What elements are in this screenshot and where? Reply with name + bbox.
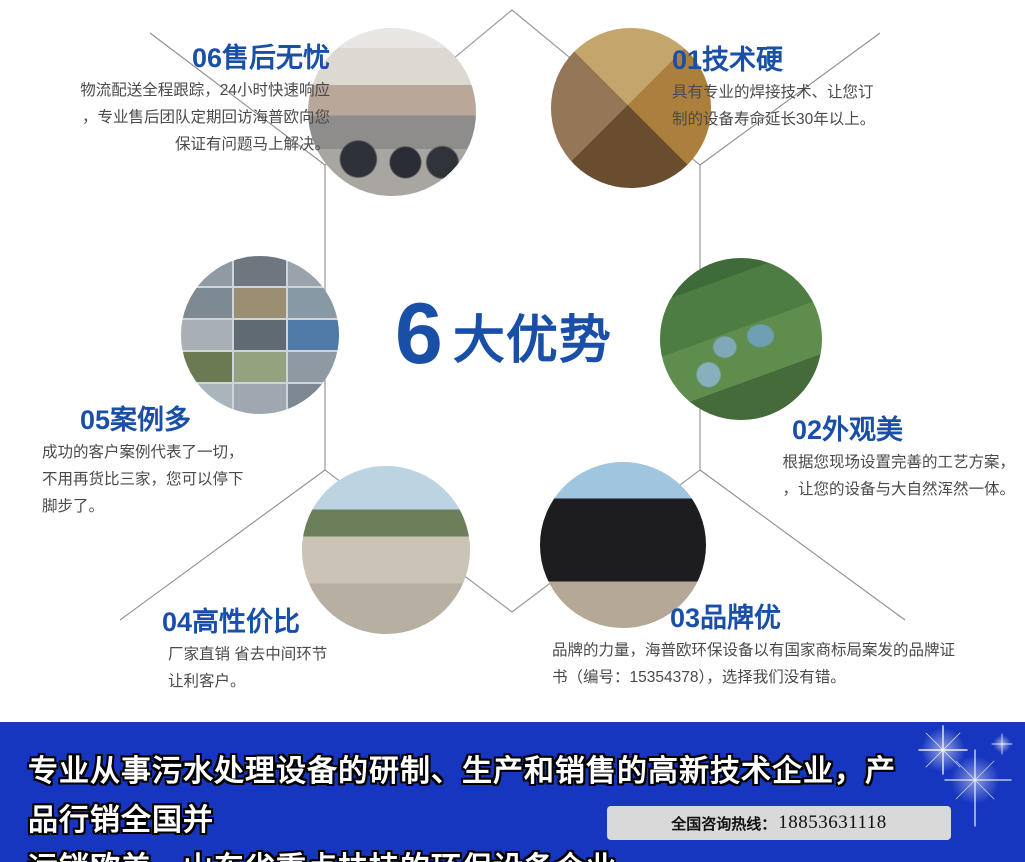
bottom-banner: 专业从事污水处理设备的研制、生产和销售的高新技术企业，产品行销全国并 远销欧美，… — [0, 722, 1025, 862]
case-collage-photo — [181, 256, 339, 414]
feature-03-desc: 品牌的力量，海普欧环保设备以有国家商标局案发的品牌证 书（编号：15354378… — [552, 638, 1025, 691]
feature-06: 06售后无忧 物流配送全程跟踪，24小时快速响应 ，专业售后团队定期回访海普欧向… — [10, 44, 330, 158]
feature-05-heading: 05案例多 — [80, 406, 362, 434]
feature-04-heading: 04高性价比 — [162, 608, 450, 636]
feature-03: 03品牌优 品牌的力量，海普欧环保设备以有国家商标局案发的品牌证 书（编号：15… — [528, 604, 1025, 692]
feature-06-desc: 物流配送全程跟踪，24小时快速响应 ，专业售后团队定期回访海普欧向您 保证有问题… — [10, 78, 330, 158]
banner-slogan: 专业从事污水处理设备的研制、生产和销售的高新技术企业，产品行销全国并 远销欧美，… — [28, 748, 908, 862]
banner-line-2: 远销欧美，山东省重点扶持的环保设备企业。 — [28, 852, 648, 862]
feature-01-desc: 具有专业的焊接技术、让您订 制的设备寿命延长30年以上。 — [672, 80, 1012, 133]
center-text: 大优势 — [453, 298, 612, 373]
hotline-label: 全国咨询热线： — [671, 813, 776, 834]
feature-01-heading: 01技术硬 — [672, 46, 1012, 74]
feature-04: 04高性价比 厂家直销 省去中间环节 让利客户。 — [130, 608, 450, 696]
center-headline: 6 大优势 — [395, 290, 645, 380]
wastewater-plant-aerial-photo — [660, 258, 822, 420]
office-staff-photo — [308, 28, 476, 196]
feature-02-desc: 根据您现场设置完善的工艺方案， ，让您的设备与大自然浑然一体。 — [690, 450, 1015, 503]
feature-04-desc: 厂家直销 省去中间环节 让利客户。 — [168, 642, 450, 695]
feature-06-heading: 06售后无忧 — [10, 44, 330, 72]
feature-01: 01技术硬 具有专业的焊接技术、让您订 制的设备寿命延长30年以上。 — [672, 46, 1012, 134]
center-number: 6 — [395, 296, 441, 373]
feature-03-heading: 03品牌优 — [670, 604, 1025, 632]
infographic-canvas: 6 大优势 06售后无忧 物流配送全程跟踪，24小时快速响应 ，专业售后团队定期… — [0, 0, 1025, 862]
hotline-number: 18853631118 — [778, 812, 887, 834]
case-collage-grid — [181, 256, 339, 414]
feature-02-heading: 02外观美 — [690, 416, 903, 444]
hotline-badge[interactable]: 全国咨询热线： 18853631118 — [607, 806, 951, 840]
feature-02: 02外观美 根据您现场设置完善的工艺方案， ，让您的设备与大自然浑然一体。 — [690, 416, 1015, 504]
